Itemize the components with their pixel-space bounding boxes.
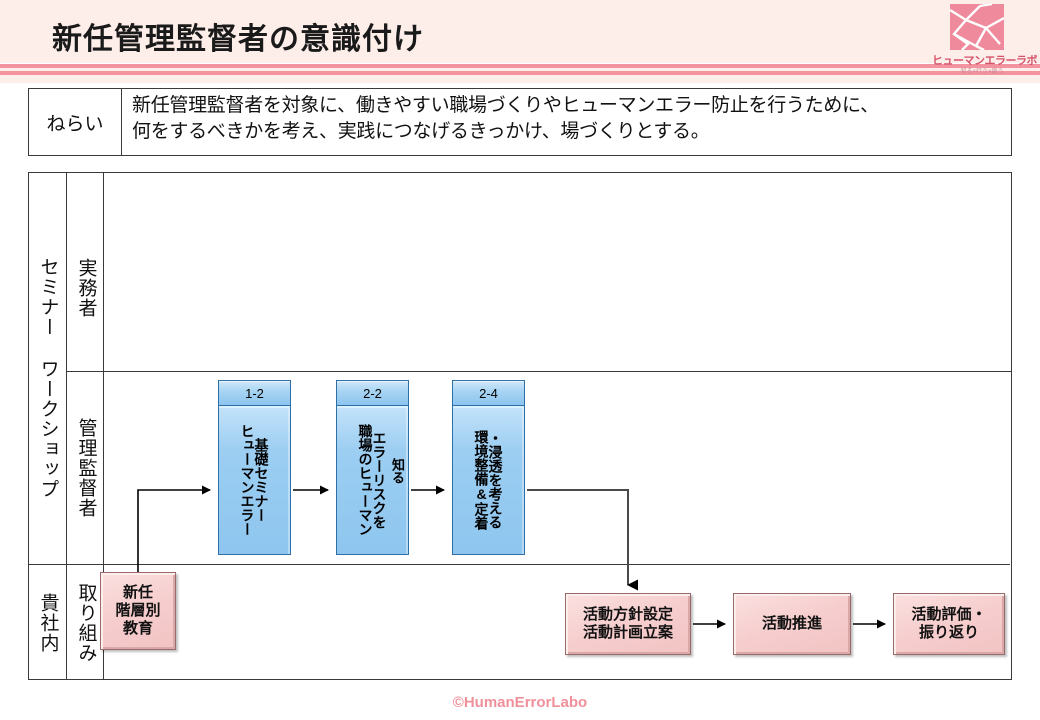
seminar-box-1-text-right: 基礎セミナー (255, 438, 269, 522)
seminar-box-1-text-left: ヒューマンエラー (241, 424, 255, 536)
internal-box-1-line1: 新任 (115, 584, 160, 602)
aim-text: 新任管理監督者を対象に、働きやすい職場づくりやヒューマンエラー防止を行うために、… (122, 89, 1011, 155)
label-row-initiative: 取り組み (74, 569, 98, 677)
label-row-practitioner: 実務者 (74, 213, 98, 363)
grid-divider-row2 (29, 564, 1010, 565)
aim-text-line2: 何をするべきかを考え、実践につなげるきっかけ、場づくりとする。 (132, 119, 1003, 145)
aim-label: ねらい (29, 89, 122, 155)
seminar-box-2-code: 2-2 (336, 380, 409, 405)
logo-tagline: 知る×行う×鍛う (932, 66, 1032, 75)
human-error-labo-logo-icon (950, 4, 1004, 50)
seminar-box-3-code: 2-4 (452, 380, 525, 405)
page-title: 新任管理監督者の意識付け (52, 14, 424, 58)
seminar-box-2-text-left: 職場のヒューマン (359, 424, 373, 536)
internal-box-4-line1: 活動評価・ (911, 606, 986, 624)
seminar-box-3-text-left: 環境整備&定着 (475, 430, 489, 530)
internal-box-1-line2: 階層別 (115, 602, 160, 620)
seminar-box-3[interactable]: 2-4 ・浸透を考える 環境整備&定着 (452, 380, 525, 555)
seminar-box-2-text-right: エラーリスクを (373, 431, 387, 529)
internal-box-2-line2: 活動計画立案 (583, 624, 673, 642)
seminar-box-3-text-right: ・浸透を考える (489, 431, 503, 529)
label-in-company: 貴社内 (36, 569, 60, 677)
seminar-box-1-code: 1-2 (218, 380, 291, 405)
label-seminar-workshop: セミナー ワークショップ (36, 213, 60, 543)
internal-box-4-line2: 振り返り (911, 624, 986, 642)
grid-divider-row1 (67, 371, 1011, 372)
annotation-shiru: 知る (388, 458, 407, 484)
internal-box-1-line3: 教育 (115, 620, 160, 638)
internal-box-2-line1: 活動方針設定 (583, 606, 673, 624)
footer-copyright: ©HumanErrorLabo (0, 694, 1040, 711)
internal-box-activity-review[interactable]: 活動評価・ 振り返り (893, 593, 1005, 655)
internal-box-activity-promotion[interactable]: 活動推進 (733, 593, 851, 655)
aim-box: ねらい 新任管理監督者を対象に、働きやすい職場づくりやヒューマンエラー防止を行う… (28, 88, 1012, 156)
internal-box-3-line1: 活動推進 (762, 615, 822, 633)
label-row-manager: 管理監督者 (74, 378, 98, 558)
seminar-box-3-body: ・浸透を考える 環境整備&定着 (452, 405, 525, 555)
seminar-box-1[interactable]: 1-2 基礎セミナー ヒューマンエラー (218, 380, 291, 555)
internal-box-new-manager-training[interactable]: 新任 階層別 教育 (100, 572, 176, 650)
internal-box-policy-planning[interactable]: 活動方針設定 活動計画立案 (565, 593, 691, 655)
aim-text-line1: 新任管理監督者を対象に、働きやすい職場づくりやヒューマンエラー防止を行うために、 (132, 93, 1003, 119)
seminar-box-1-body: 基礎セミナー ヒューマンエラー (218, 405, 291, 555)
header-underfill (0, 75, 1040, 83)
